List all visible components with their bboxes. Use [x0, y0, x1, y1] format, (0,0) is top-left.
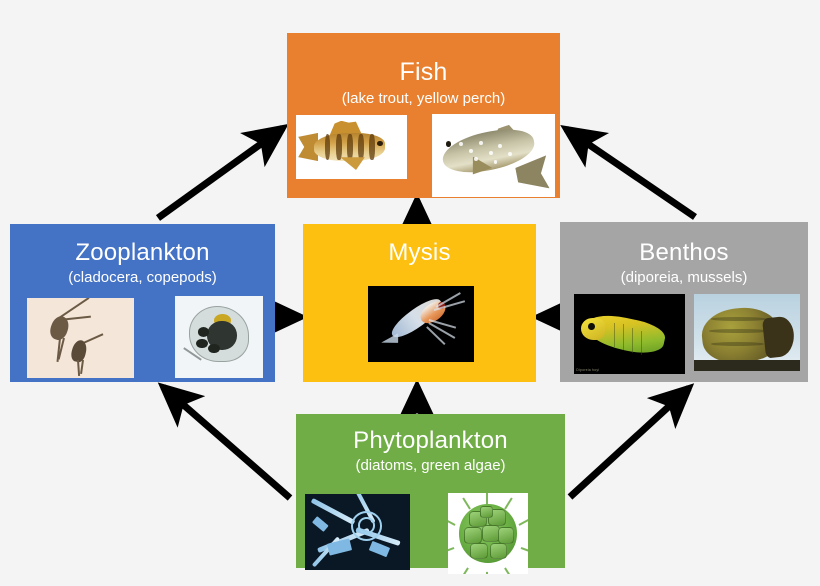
node-phytoplankton-subtitle: (diatoms, green algae)	[296, 453, 565, 475]
green-algae-image	[448, 493, 528, 574]
copepod-image	[27, 298, 134, 378]
node-fish-subtitle: (lake trout, yellow perch)	[287, 85, 560, 108]
diporeia-image: Diporeia hoyi	[574, 294, 685, 374]
arrow-phytoplankton-to-benthos	[570, 388, 689, 497]
node-zooplankton[interactable]: Zooplankton (cladocera, copepods)	[10, 224, 275, 382]
diatoms-image	[305, 494, 410, 570]
node-mysis[interactable]: Mysis	[303, 224, 536, 382]
node-fish[interactable]: Fish (lake trout, yellow perch)	[287, 33, 560, 198]
yellow-perch-image	[296, 115, 407, 179]
node-benthos-subtitle: (diporeia, mussels)	[560, 265, 808, 287]
node-zooplankton-title: Zooplankton	[10, 224, 275, 265]
node-zooplankton-subtitle: (cladocera, copepods)	[10, 265, 275, 287]
mysis-shrimp-image	[368, 286, 474, 362]
cladocera-image	[175, 296, 263, 378]
lake-trout-image	[432, 114, 555, 197]
node-phytoplankton[interactable]: Phytoplankton (diatoms, green algae)	[296, 414, 565, 568]
node-mysis-title: Mysis	[303, 224, 536, 265]
node-phytoplankton-title: Phytoplankton	[296, 414, 565, 453]
arrow-zooplankton-to-fish	[158, 128, 283, 218]
mussel-image	[694, 294, 800, 371]
food-web-diagram: Fish (lake trout, yellow perch)	[0, 0, 820, 586]
node-benthos[interactable]: Benthos (diporeia, mussels) Diporeia hoy…	[560, 222, 808, 382]
node-fish-title: Fish	[287, 33, 560, 85]
arrow-phytoplankton-to-zooplankton	[163, 387, 290, 498]
node-benthos-title: Benthos	[560, 222, 808, 265]
arrow-benthos-to-fish	[566, 129, 695, 217]
